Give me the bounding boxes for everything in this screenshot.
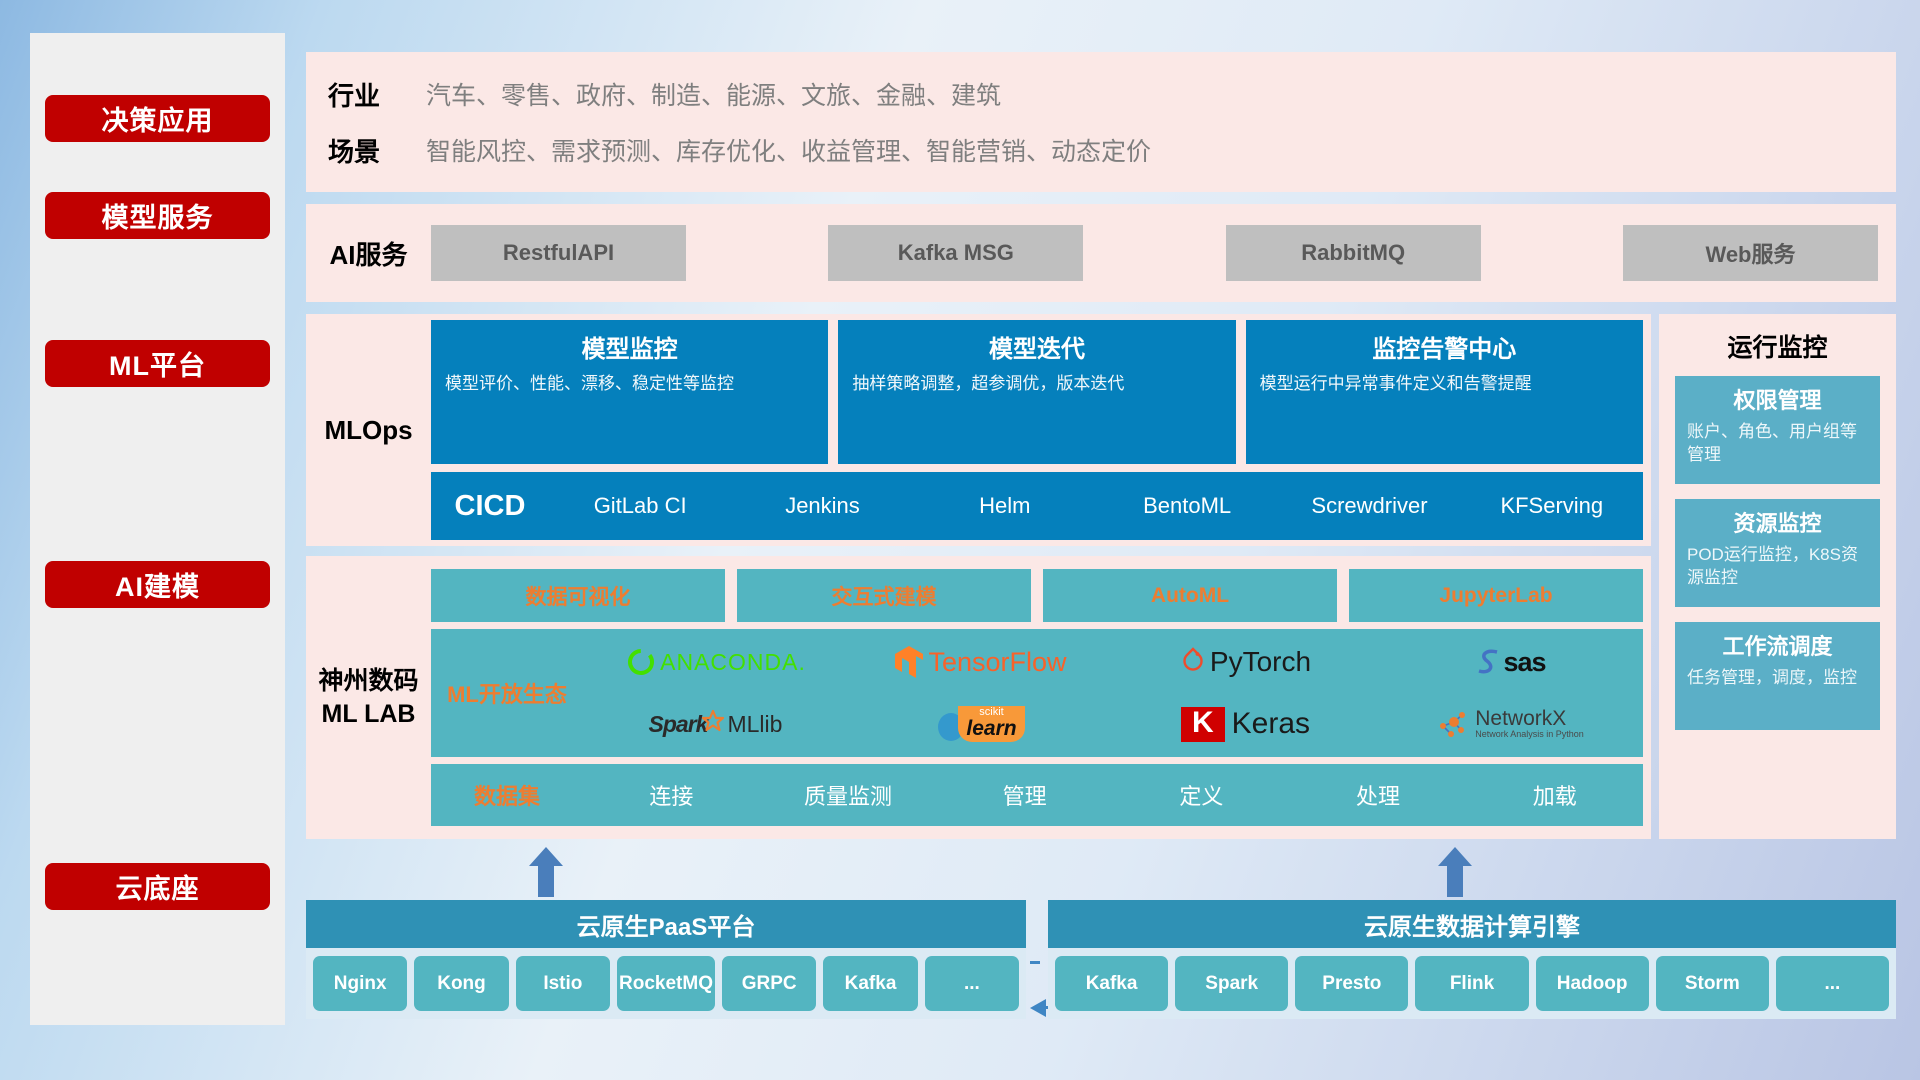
stage-rail: 决策应用 模型服务 ML平台 AI建模 云底座 — [30, 33, 285, 1025]
tool-chip-jupyterlab[interactable]: JupyterLab — [1349, 569, 1643, 622]
stage-button-model-service[interactable]: 模型服务 — [45, 192, 270, 239]
engine-chip-spark[interactable]: Spark — [1175, 956, 1288, 1011]
dataset-row: 数据集 连接 质量监测 管理 定义 处理 加载 — [431, 764, 1643, 826]
paas-chip-istio[interactable]: Istio — [516, 956, 610, 1011]
connector-arrow-left-icon — [1030, 999, 1046, 1017]
runtime-monitoring-rail: 运行监控 权限管理 账户、角色、用户组等管理 资源监控 POD运行监控，K8S资… — [1659, 314, 1896, 839]
paas-chip-rocketmq[interactable]: RocketMQ — [617, 956, 715, 1011]
cicd-bar: CICD GitLab CI Jenkins Helm BentoML Scre… — [431, 472, 1643, 540]
dataset-items: 连接 质量监测 管理 定义 处理 加载 — [583, 779, 1643, 811]
cloud-base-section: 云原生PaaS平台 Nginx Kong Istio RocketMQ GRPC… — [306, 875, 1896, 1025]
anaconda-wordmark: ANACONDA. — [660, 649, 806, 676]
apps-industry-label: 行业 — [306, 76, 426, 113]
cicd-items: GitLab CI Jenkins Helm BentoML Screwdriv… — [549, 494, 1643, 517]
cicd-item-bentoml[interactable]: BentoML — [1096, 494, 1278, 517]
mlops-label: MLOps — [306, 415, 431, 446]
tensorflow-wordmark: TensorFlow — [928, 647, 1066, 678]
cloud-native-paas-items: Nginx Kong Istio RocketMQ GRPC Kafka ... — [306, 948, 1026, 1019]
learn-word: learn — [966, 718, 1016, 739]
paas-chip-kong[interactable]: Kong — [414, 956, 508, 1011]
ai-service-items: RestfulAPI Kafka MSG RabbitMQ Web服务 — [431, 225, 1896, 281]
ai-service-chip-restfulapi[interactable]: RestfulAPI — [431, 225, 686, 281]
up-arrow-paas-icon — [529, 847, 563, 897]
networkx-tagline: Network Analysis in Python — [1475, 730, 1584, 739]
dataset-item-quality[interactable]: 质量监测 — [760, 779, 937, 811]
paas-chip-kafka[interactable]: Kafka — [823, 956, 917, 1011]
networkx-logo: NetworkX Network Analysis in Python — [1378, 693, 1643, 755]
monitor-card-permission[interactable]: 权限管理 账户、角色、用户组等管理 — [1675, 376, 1880, 484]
engine-chip-hadoop[interactable]: Hadoop — [1536, 956, 1649, 1011]
cloud-native-data-engine-items: Kafka Spark Presto Flink Hadoop Storm ..… — [1048, 948, 1896, 1019]
card-desc: POD运行监控，K8S资源监控 — [1687, 544, 1868, 589]
paas-chip-grpc[interactable]: GRPC — [722, 956, 816, 1011]
up-arrow-data-engine-icon — [1438, 847, 1472, 897]
spark-wordmark: Spark — [649, 711, 708, 738]
sas-logo: sas — [1378, 631, 1643, 693]
dataset-item-load[interactable]: 加载 — [1466, 779, 1643, 811]
ai-service-chip-kafka-msg[interactable]: Kafka MSG — [828, 225, 1083, 281]
cloud-native-paas-title: 云原生PaaS平台 — [306, 900, 1026, 948]
paas-chip-more[interactable]: ... — [925, 956, 1019, 1011]
stage-button-ai-modeling[interactable]: AI建模 — [45, 561, 270, 608]
dataset-item-process[interactable]: 处理 — [1290, 779, 1467, 811]
dataset-label: 数据集 — [431, 779, 583, 811]
monitor-card-workflow[interactable]: 工作流调度 任务管理，调度，监控 — [1675, 622, 1880, 730]
spark-mllib-logo: Spark MLlib — [583, 693, 848, 755]
cloud-native-data-engine-title: 云原生数据计算引擎 — [1048, 900, 1896, 948]
card-title: 资源监控 — [1687, 506, 1868, 538]
card-title: 工作流调度 — [1687, 629, 1868, 661]
engine-chip-kafka[interactable]: Kafka — [1055, 956, 1168, 1011]
card-desc: 抽样策略调整，超参调优，版本迭代 — [852, 373, 1221, 395]
pytorch-logo: PyTorch — [1113, 631, 1378, 693]
engine-chip-presto[interactable]: Presto — [1295, 956, 1408, 1011]
stage-button-ml-platform[interactable]: ML平台 — [45, 340, 270, 387]
ml-lab-tools: 数据可视化 交互式建模 AutoML JupyterLab — [431, 569, 1643, 622]
ml-lab-label-line2: ML LAB — [306, 698, 431, 731]
mlops-card-model-iteration[interactable]: 模型迭代 抽样策略调整，超参调优，版本迭代 — [838, 320, 1235, 464]
cicd-item-gitlab-ci[interactable]: GitLab CI — [549, 494, 731, 517]
runtime-monitoring-title: 运行监控 — [1675, 328, 1880, 364]
apps-industry-line: 行业 汽车、零售、政府、制造、能源、文旅、金融、建筑 — [306, 66, 1896, 122]
apps-industry-value: 汽车、零售、政府、制造、能源、文旅、金融、建筑 — [426, 76, 1001, 112]
keras-logo: K Keras — [1113, 693, 1378, 755]
card-desc: 任务管理，调度，监控 — [1687, 667, 1868, 690]
card-desc: 模型运行中异常事件定义和告警提醒 — [1260, 373, 1629, 395]
apps-lines: 行业 汽车、零售、政府、制造、能源、文旅、金融、建筑 场景 智能风控、需求预测、… — [306, 66, 1896, 178]
ml-lab-body: 数据可视化 交互式建模 AutoML JupyterLab ML开放生态 ANA… — [431, 569, 1651, 826]
cicd-title: CICD — [431, 490, 549, 523]
keras-wordmark: Keras — [1232, 707, 1310, 741]
scikit-learn-logo: scikit learn — [848, 693, 1113, 755]
card-title: 监控告警中心 — [1260, 329, 1629, 364]
cloud-native-data-engine-group: 云原生数据计算引擎 Kafka Spark Presto Flink Hadoo… — [1048, 900, 1896, 1019]
ai-service-label: AI服务 — [306, 235, 431, 272]
engine-chip-storm[interactable]: Storm — [1656, 956, 1769, 1011]
mlops-card-alert-center[interactable]: 监控告警中心 模型运行中异常事件定义和告警提醒 — [1246, 320, 1643, 464]
engine-chip-more[interactable]: ... — [1776, 956, 1889, 1011]
engine-chip-flink[interactable]: Flink — [1415, 956, 1528, 1011]
anaconda-logo: ANACONDA. — [583, 631, 848, 693]
ml-lab-label: 神州数码 ML LAB — [306, 665, 431, 730]
cloud-native-paas-group: 云原生PaaS平台 Nginx Kong Istio RocketMQ GRPC… — [306, 900, 1026, 1019]
card-title: 权限管理 — [1687, 383, 1868, 415]
tensorflow-logo: TensorFlow — [848, 631, 1113, 693]
ml-lab-label-line1: 神州数码 — [306, 665, 431, 698]
ml-lab-row: 神州数码 ML LAB 数据可视化 交互式建模 AutoML JupyterLa… — [306, 556, 1651, 839]
apps-scenario-value: 智能风控、需求预测、库存优化、收益管理、智能营销、动态定价 — [426, 132, 1151, 168]
card-desc: 账户、角色、用户组等管理 — [1687, 421, 1868, 466]
cicd-item-kfserving[interactable]: KFServing — [1461, 494, 1643, 517]
tool-chip-data-visualization[interactable]: 数据可视化 — [431, 569, 725, 622]
mlops-body: 模型监控 模型评价、性能、漂移、稳定性等监控 模型迭代 抽样策略调整，超参调优，… — [431, 320, 1651, 540]
card-desc: 模型评价、性能、漂移、稳定性等监控 — [445, 373, 814, 395]
cicd-item-jenkins[interactable]: Jenkins — [731, 494, 913, 517]
cicd-item-screwdriver[interactable]: Screwdriver — [1278, 494, 1460, 517]
tool-chip-automl[interactable]: AutoML — [1043, 569, 1337, 622]
mllib-wordmark: MLlib — [727, 711, 782, 738]
card-title: 模型迭代 — [852, 329, 1221, 364]
ml-ecosystem-row: ML开放生态 ANACONDA. TensorFlow — [431, 629, 1643, 757]
dataset-item-define[interactable]: 定义 — [1113, 779, 1290, 811]
ai-service-row: AI服务 RestfulAPI Kafka MSG RabbitMQ Web服务 — [306, 204, 1896, 302]
decision-apps-row: 行业 汽车、零售、政府、制造、能源、文旅、金融、建筑 场景 智能风控、需求预测、… — [306, 52, 1896, 192]
sas-wordmark: sas — [1503, 647, 1545, 678]
paas-chip-nginx[interactable]: Nginx — [313, 956, 407, 1011]
monitor-card-resource[interactable]: 资源监控 POD运行监控，K8S资源监控 — [1675, 499, 1880, 607]
mlops-row: MLOps 模型监控 模型评价、性能、漂移、稳定性等监控 模型迭代 抽样策略调整… — [306, 314, 1651, 546]
card-title: 模型监控 — [445, 329, 814, 364]
dataset-item-manage[interactable]: 管理 — [936, 779, 1113, 811]
apps-scenario-line: 场景 智能风控、需求预测、库存优化、收益管理、智能营销、动态定价 — [306, 122, 1896, 178]
ai-service-chip-web[interactable]: Web服务 — [1623, 225, 1878, 281]
networkx-wordmark: NetworkX — [1475, 708, 1584, 730]
cicd-item-helm[interactable]: Helm — [914, 494, 1096, 517]
mlops-cards: 模型监控 模型评价、性能、漂移、稳定性等监控 模型迭代 抽样策略调整，超参调优，… — [431, 320, 1643, 464]
ml-ecosystem-label: ML开放生态 — [431, 677, 583, 709]
ai-service-chip-rabbitmq[interactable]: RabbitMQ — [1226, 225, 1481, 281]
pytorch-wordmark: PyTorch — [1210, 646, 1311, 678]
dataset-item-connect[interactable]: 连接 — [583, 779, 760, 811]
apps-scenario-label: 场景 — [306, 132, 426, 169]
stage-button-decision-apps[interactable]: 决策应用 — [45, 95, 270, 142]
ml-ecosystem-logos: ANACONDA. TensorFlow PyTorch — [583, 631, 1643, 755]
stage-button-cloud-base[interactable]: 云底座 — [45, 863, 270, 910]
tool-chip-interactive-modeling[interactable]: 交互式建模 — [737, 569, 1031, 622]
keras-k-mark: K — [1181, 707, 1225, 742]
mlops-card-model-monitoring[interactable]: 模型监控 模型评价、性能、漂移、稳定性等监控 — [431, 320, 828, 464]
